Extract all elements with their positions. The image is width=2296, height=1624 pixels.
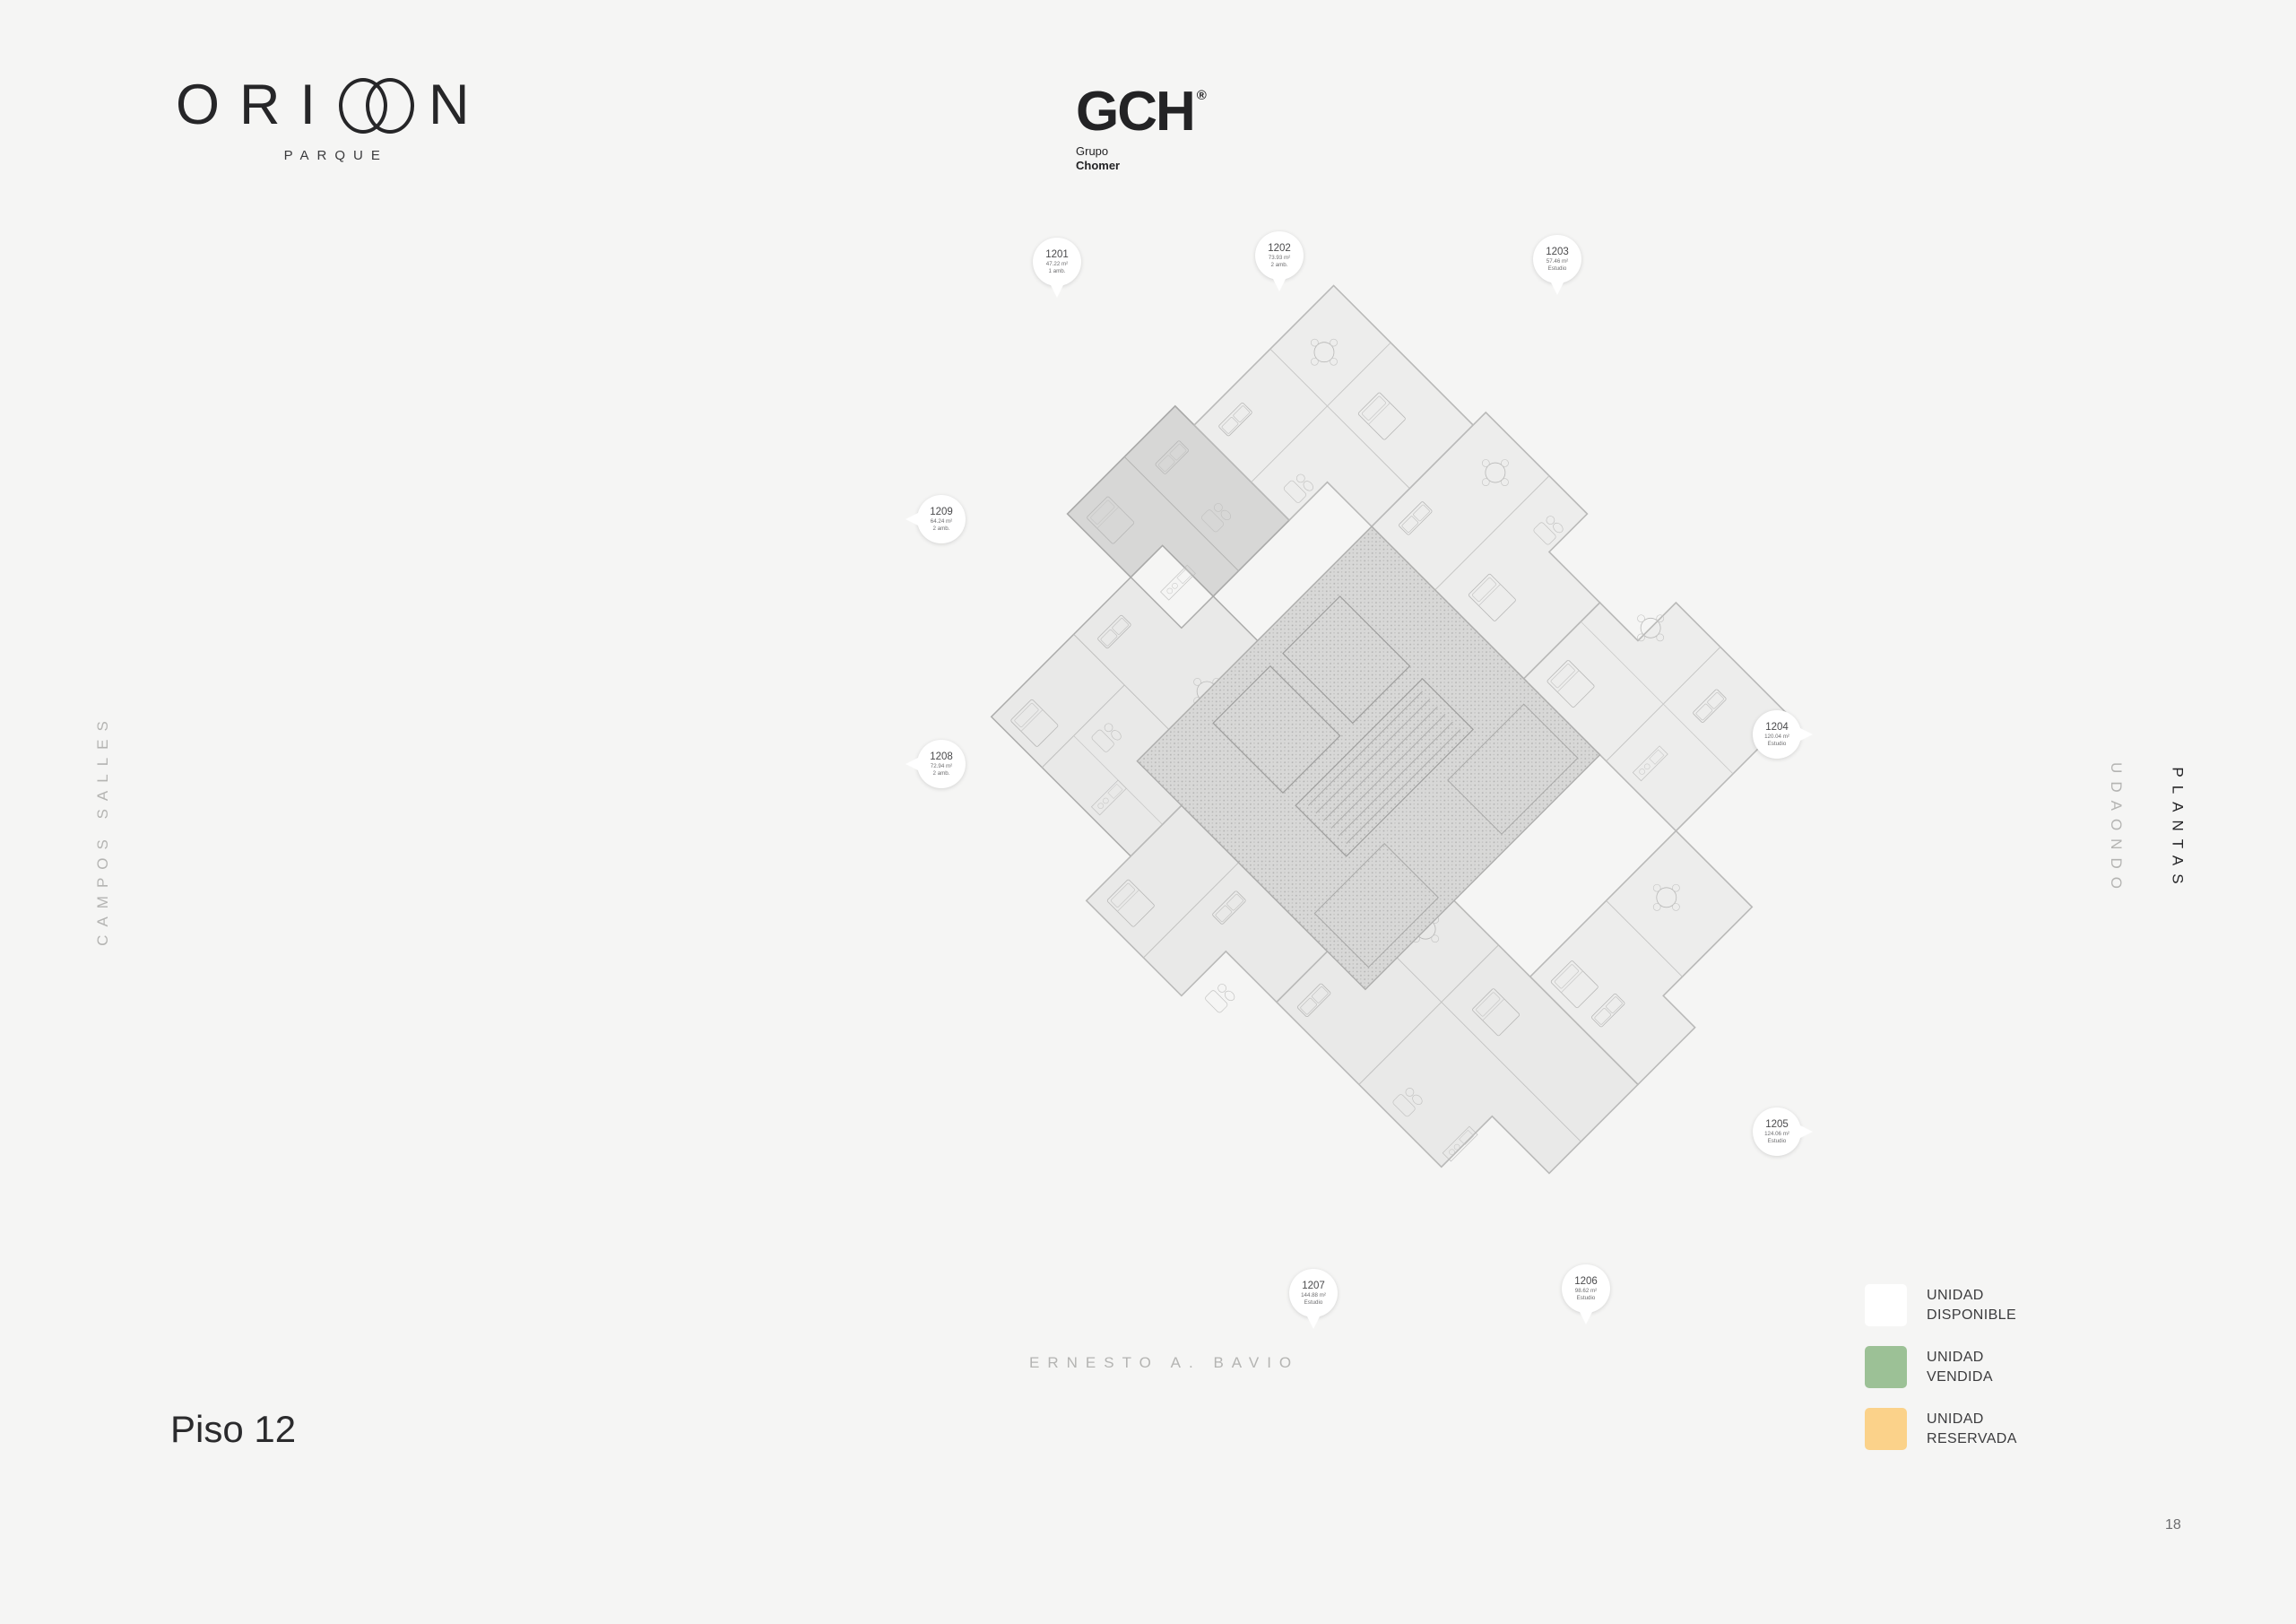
unit-marker-1202-bubble[interactable]: 1202 73.93 m² 2 amb. <box>1255 231 1304 280</box>
legend-item-vendida: UNIDAD VENDIDA <box>1865 1346 2017 1388</box>
unit-marker-1201-bubble[interactable]: 1201 47.22 m² 1 amb. <box>1033 238 1081 286</box>
floor-plan-drawing <box>923 242 1820 1318</box>
legend-item-reservada: UNIDAD RESERVADA <box>1865 1408 2017 1450</box>
unit-type: 1 amb. <box>1049 268 1066 275</box>
orion-subtitle: PARQUE <box>176 148 490 163</box>
orion-wordmark-end: N <box>429 77 490 134</box>
unit-marker-1206-bubble[interactable]: 1206 98.62 m² Estudio <box>1562 1264 1610 1313</box>
gch-wordmark: GCH ® <box>1076 86 1205 139</box>
unit-type: 2 amb. <box>933 770 950 777</box>
unit-type: Estudio <box>1548 265 1567 273</box>
unit-marker-1206[interactable]: 1206 98.62 m² Estudio <box>1562 1264 1610 1313</box>
street-label-bottom: ERNESTO A. BAVIO <box>1029 1354 1299 1372</box>
gch-subtitle: Grupo Chomer <box>1076 144 1205 174</box>
legend-label-vendida-line1: UNIDAD <box>1927 1348 1993 1367</box>
gch-wordmark-text: GCH <box>1076 86 1194 139</box>
orion-wordmark: ORI N <box>176 77 490 134</box>
orion-wordmark-start: ORI <box>176 77 335 134</box>
unit-marker-1208-bubble[interactable]: 1208 72.94 m² 2 amb. <box>917 740 966 788</box>
unit-marker-1207[interactable]: 1207 144.88 m² Estudio <box>1289 1269 1338 1317</box>
legend-label-reservada: UNIDAD RESERVADA <box>1927 1410 2017 1447</box>
unit-area: 98.62 m² <box>1575 1288 1597 1295</box>
legend-swatch-reservada <box>1865 1408 1907 1450</box>
unit-area: 73.93 m² <box>1269 255 1290 262</box>
unit-id: 1202 <box>1268 243 1291 254</box>
street-label-right: UDAONDO <box>2107 762 2125 897</box>
unit-id: 1201 <box>1045 249 1069 260</box>
gch-subtitle-line2: Chomer <box>1076 159 1205 173</box>
unit-type: Estudio <box>1768 741 1787 748</box>
unit-id: 1205 <box>1765 1119 1789 1130</box>
unit-type: Estudio <box>1577 1295 1596 1302</box>
legend-swatch-disponible <box>1865 1284 1907 1326</box>
unit-type: 2 amb. <box>1271 262 1288 269</box>
legend-label-vendida: UNIDAD VENDIDA <box>1927 1348 1993 1385</box>
unit-marker-1205-bubble[interactable]: 1205 124.06 m² Estudio <box>1753 1107 1801 1156</box>
unit-marker-1203-bubble[interactable]: 1203 57.46 m² Estudio <box>1533 235 1581 283</box>
orion-logo: ORI N PARQUE <box>176 77 490 163</box>
floor-plan: 1201 47.22 m² 1 amb. 1202 73.93 m² 2 amb… <box>923 242 1820 1318</box>
unit-id: 1207 <box>1302 1281 1325 1291</box>
legend-label-disponible-line2: DISPONIBLE <box>1927 1306 2016 1324</box>
legend-label-reservada-line2: RESERVADA <box>1927 1429 2017 1448</box>
unit-marker-1202[interactable]: 1202 73.93 m² 2 amb. <box>1255 231 1304 280</box>
unit-area: 64.24 m² <box>931 518 952 525</box>
gch-subtitle-line1: Grupo <box>1076 144 1205 159</box>
section-label-plantas: PLANTAS <box>2169 767 2187 891</box>
unit-marker-1201[interactable]: 1201 47.22 m² 1 amb. <box>1033 238 1081 286</box>
page-number: 18 <box>2165 1517 2181 1533</box>
unit-id: 1206 <box>1574 1276 1598 1287</box>
unit-marker-1208[interactable]: 1208 72.94 m² 2 amb. <box>917 740 966 788</box>
unit-area: 47.22 m² <box>1046 261 1068 268</box>
brochure-page: ORI N PARQUE GCH ® Grupo Chomer CAMPOS S… <box>0 0 2296 1624</box>
registered-trademark-icon: ® <box>1197 90 1205 102</box>
unit-marker-1205[interactable]: 1205 124.06 m² Estudio <box>1753 1107 1801 1156</box>
unit-area: 57.46 m² <box>1547 258 1568 265</box>
unit-id: 1204 <box>1765 722 1789 733</box>
street-label-left: CAMPOS SALLES <box>94 713 112 946</box>
unit-id: 1208 <box>930 751 953 762</box>
gch-logo: GCH ® Grupo Chomer <box>1076 86 1205 173</box>
unit-area: 72.94 m² <box>931 763 952 770</box>
status-legend: UNIDAD DISPONIBLE UNIDAD VENDIDA UNIDAD … <box>1865 1284 2017 1470</box>
legend-label-disponible: UNIDAD DISPONIBLE <box>1927 1286 2016 1324</box>
legend-label-reservada-line1: UNIDAD <box>1927 1410 2017 1429</box>
legend-label-vendida-line2: VENDIDA <box>1927 1368 1993 1386</box>
unit-area: 120.04 m² <box>1764 734 1789 741</box>
unit-id: 1203 <box>1546 247 1569 257</box>
unit-area: 124.06 m² <box>1764 1131 1789 1138</box>
legend-item-disponible: UNIDAD DISPONIBLE <box>1865 1284 2017 1326</box>
page-title: Piso 12 <box>170 1408 296 1451</box>
unit-marker-1209[interactable]: 1209 64.24 m² 2 amb. <box>917 495 966 543</box>
unit-type: Estudio <box>1768 1138 1787 1145</box>
unit-marker-1204-bubble[interactable]: 1204 120.04 m² Estudio <box>1753 710 1801 759</box>
unit-marker-1203[interactable]: 1203 57.46 m² Estudio <box>1533 235 1581 283</box>
unit-id: 1209 <box>930 507 953 517</box>
legend-label-disponible-line1: UNIDAD <box>1927 1286 2016 1305</box>
legend-swatch-vendida <box>1865 1346 1907 1388</box>
unit-marker-1209-bubble[interactable]: 1209 64.24 m² 2 amb. <box>917 495 966 543</box>
unit-marker-1207-bubble[interactable]: 1207 144.88 m² Estudio <box>1289 1269 1338 1317</box>
unit-type: Estudio <box>1304 1299 1323 1307</box>
orion-lens-icon <box>339 78 416 134</box>
unit-type: 2 amb. <box>933 525 950 533</box>
unit-area: 144.88 m² <box>1301 1292 1326 1299</box>
unit-marker-1204[interactable]: 1204 120.04 m² Estudio <box>1753 710 1801 759</box>
